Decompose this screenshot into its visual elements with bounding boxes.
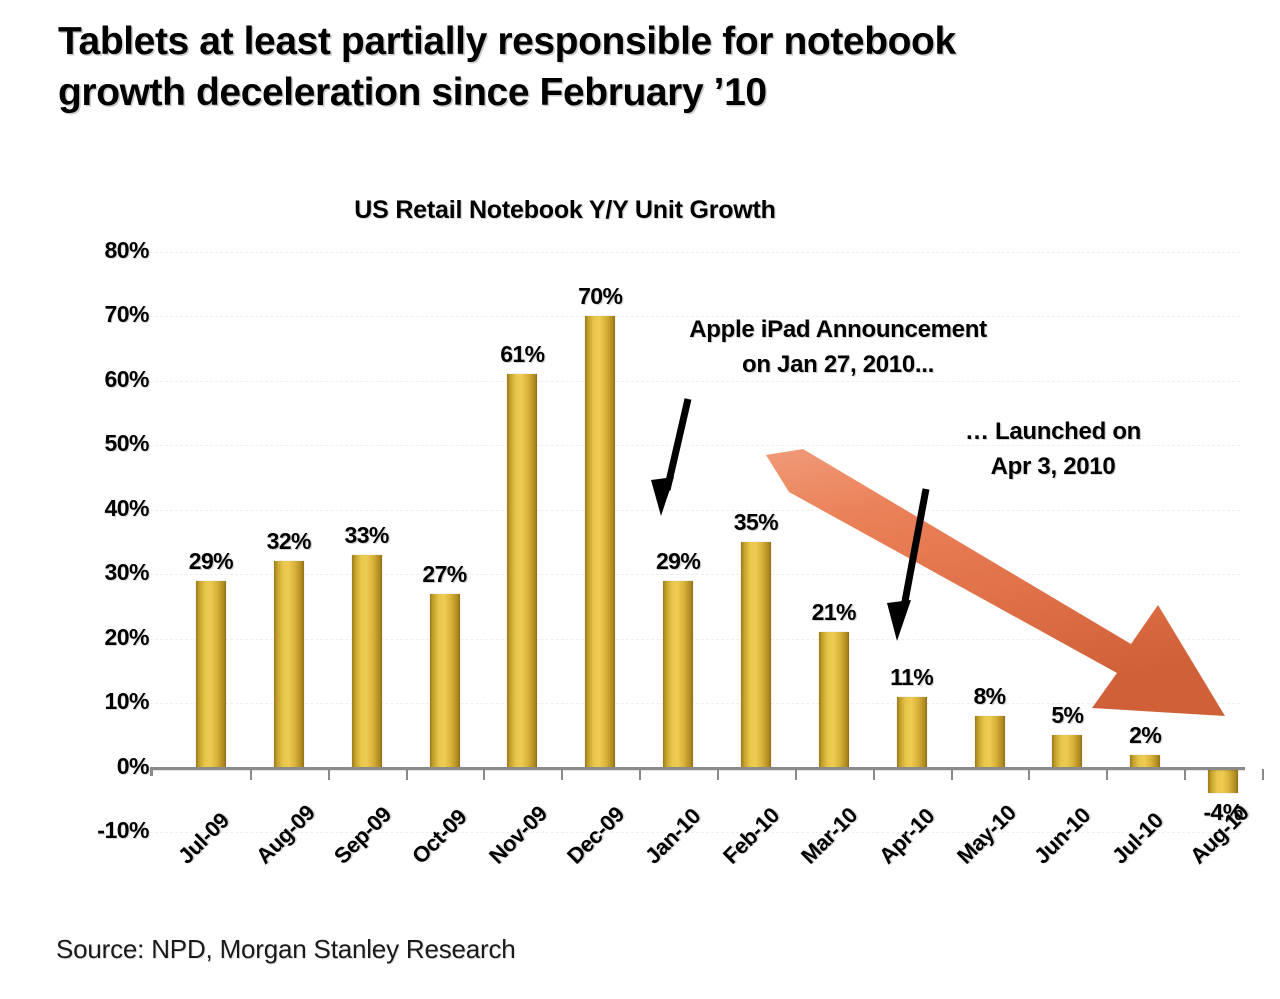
x-axis-category-label: Dec-09 (562, 801, 630, 869)
x-axis-tick (717, 769, 719, 780)
bar-value-label: 70% (540, 283, 660, 310)
page-title-line-2: growth deceleration since February ’10 (58, 67, 1158, 118)
gridline (150, 639, 1240, 641)
x-axis-line (150, 767, 1245, 770)
bar-aug-10[interactable] (1208, 768, 1238, 794)
bar-mar-10[interactable] (819, 632, 849, 767)
gridline (150, 252, 1240, 254)
x-axis-start-cap (150, 767, 153, 776)
bar-value-label: 61% (462, 341, 582, 368)
annotation-ipad-launch-line-2: Apr 3, 2010 (888, 450, 1218, 485)
y-axis-tick-label: 40% (39, 495, 149, 522)
x-axis-tick (795, 769, 797, 780)
y-axis-tick-label: 60% (39, 366, 149, 393)
x-axis-tick (1184, 769, 1186, 780)
x-axis-category-label: Oct-09 (407, 804, 472, 869)
y-axis-tick-label: 20% (39, 624, 149, 651)
bar-may-10[interactable] (975, 716, 1005, 768)
x-axis-category-label: Jan-10 (640, 803, 706, 869)
x-axis-category-label: Feb-10 (718, 802, 785, 869)
bar-oct-09[interactable] (430, 594, 460, 768)
y-axis-tick-label: -10% (39, 817, 149, 844)
bar-value-label: 21% (774, 599, 894, 626)
x-axis-tick (328, 769, 330, 780)
annotation-ipad-announcement-line-1: Apple iPad Announcement (608, 313, 1068, 348)
x-axis-category-label: Sep-09 (329, 801, 397, 869)
y-axis-tick-label: 0% (39, 753, 149, 780)
x-axis-category-label: Nov-09 (484, 800, 553, 869)
x-axis-tick (1262, 769, 1264, 780)
page-title: Tablets at least partially responsible f… (58, 16, 1158, 119)
bar-value-label: 33% (307, 522, 427, 549)
bar-apr-10[interactable] (897, 697, 927, 768)
slide-canvas: Tablets at least partially responsible f… (0, 0, 1280, 999)
annotation-ipad-launch: … Launched on Apr 3, 2010 (888, 415, 1218, 485)
x-axis-tick (250, 769, 252, 780)
y-axis-tick-label: 70% (39, 301, 149, 328)
bar-nov-09[interactable] (507, 374, 537, 767)
x-axis-category-label: Mar-10 (796, 802, 863, 869)
x-axis-category-label: Jul-10 (1107, 807, 1169, 869)
bar-value-label: 27% (385, 561, 505, 588)
y-axis-tick-label: 50% (39, 430, 149, 457)
annotation-ipad-launch-line-1: … Launched on (888, 415, 1218, 450)
y-axis-tick-label: 10% (39, 688, 149, 715)
y-axis-tick-label: 80% (39, 237, 149, 264)
source-note: Source: NPD, Morgan Stanley Research (56, 934, 516, 965)
bar-jan-10[interactable] (663, 581, 693, 768)
x-axis-tick (1028, 769, 1030, 780)
annotation-ipad-announcement: Apple iPad Announcement on Jan 27, 2010.… (608, 313, 1068, 383)
x-axis-tick (951, 769, 953, 780)
x-axis-tick (406, 769, 408, 780)
bar-jul-09[interactable] (196, 581, 226, 768)
bar-sep-09[interactable] (352, 555, 382, 768)
y-axis-tick-label: 30% (39, 559, 149, 586)
page-title-line-1: Tablets at least partially responsible f… (58, 16, 1158, 67)
x-axis-tick (483, 769, 485, 780)
chart-title: US Retail Notebook Y/Y Unit Growth (0, 196, 1130, 225)
bar-value-label: 35% (696, 509, 816, 536)
x-axis-category-label: Jul-09 (173, 807, 235, 869)
x-axis-tick (561, 769, 563, 780)
annotation-ipad-announcement-line-2: on Jan 27, 2010... (608, 348, 1068, 383)
x-axis-category-label: Aug-09 (251, 800, 320, 869)
x-axis-category-label: Apr-10 (874, 803, 940, 869)
bar-aug-09[interactable] (274, 561, 304, 767)
bar-dec-09[interactable] (585, 316, 615, 767)
x-axis-tick (1106, 769, 1108, 780)
x-axis-category-label: May-10 (952, 799, 1021, 868)
bar-jun-10[interactable] (1052, 735, 1082, 767)
bar-value-label: 29% (618, 548, 738, 575)
bar-feb-10[interactable] (741, 542, 771, 768)
x-axis-tick (873, 769, 875, 780)
x-axis-tick (639, 769, 641, 780)
bar-value-label: 2% (1085, 722, 1205, 749)
x-axis-category-label: Jun-10 (1029, 802, 1096, 869)
